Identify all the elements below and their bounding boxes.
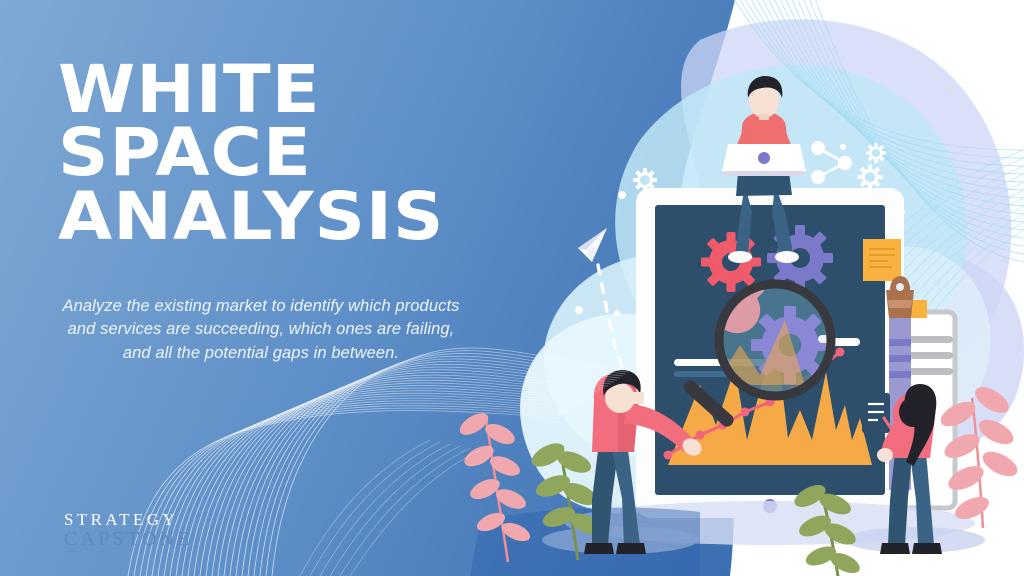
logo-line-capstone: CAPSTONE — [64, 529, 284, 549]
ground-shadows — [470, 501, 985, 576]
title-line-2: SPACE — [58, 121, 514, 184]
logo-line-strategy: STRATEGY — [64, 511, 284, 528]
paper-plane — [578, 228, 607, 262]
laptop-logo — [758, 152, 770, 164]
decor-gear-hole-3 — [865, 172, 875, 182]
title-line-3: ANALYSIS — [58, 185, 514, 248]
title-line-1: WHITE — [58, 58, 514, 121]
sticky-note — [863, 239, 901, 281]
gear-red — [701, 232, 761, 292]
page-title: WHITE SPACE ANALYSIS — [58, 58, 514, 248]
brand-logo: STRATEGY CAPSTONE — [64, 511, 284, 549]
text-block: WHITE SPACE ANALYSIS Analyze the existin… — [0, 0, 500, 576]
subtitle-text: Analyze the existing market to identify … — [62, 295, 460, 365]
decor-gear-hole-2 — [872, 149, 880, 157]
poster-canvas: WHITE SPACE ANALYSIS Analyze the existin… — [0, 0, 1024, 576]
decor-gear-hole-1 — [640, 175, 650, 185]
